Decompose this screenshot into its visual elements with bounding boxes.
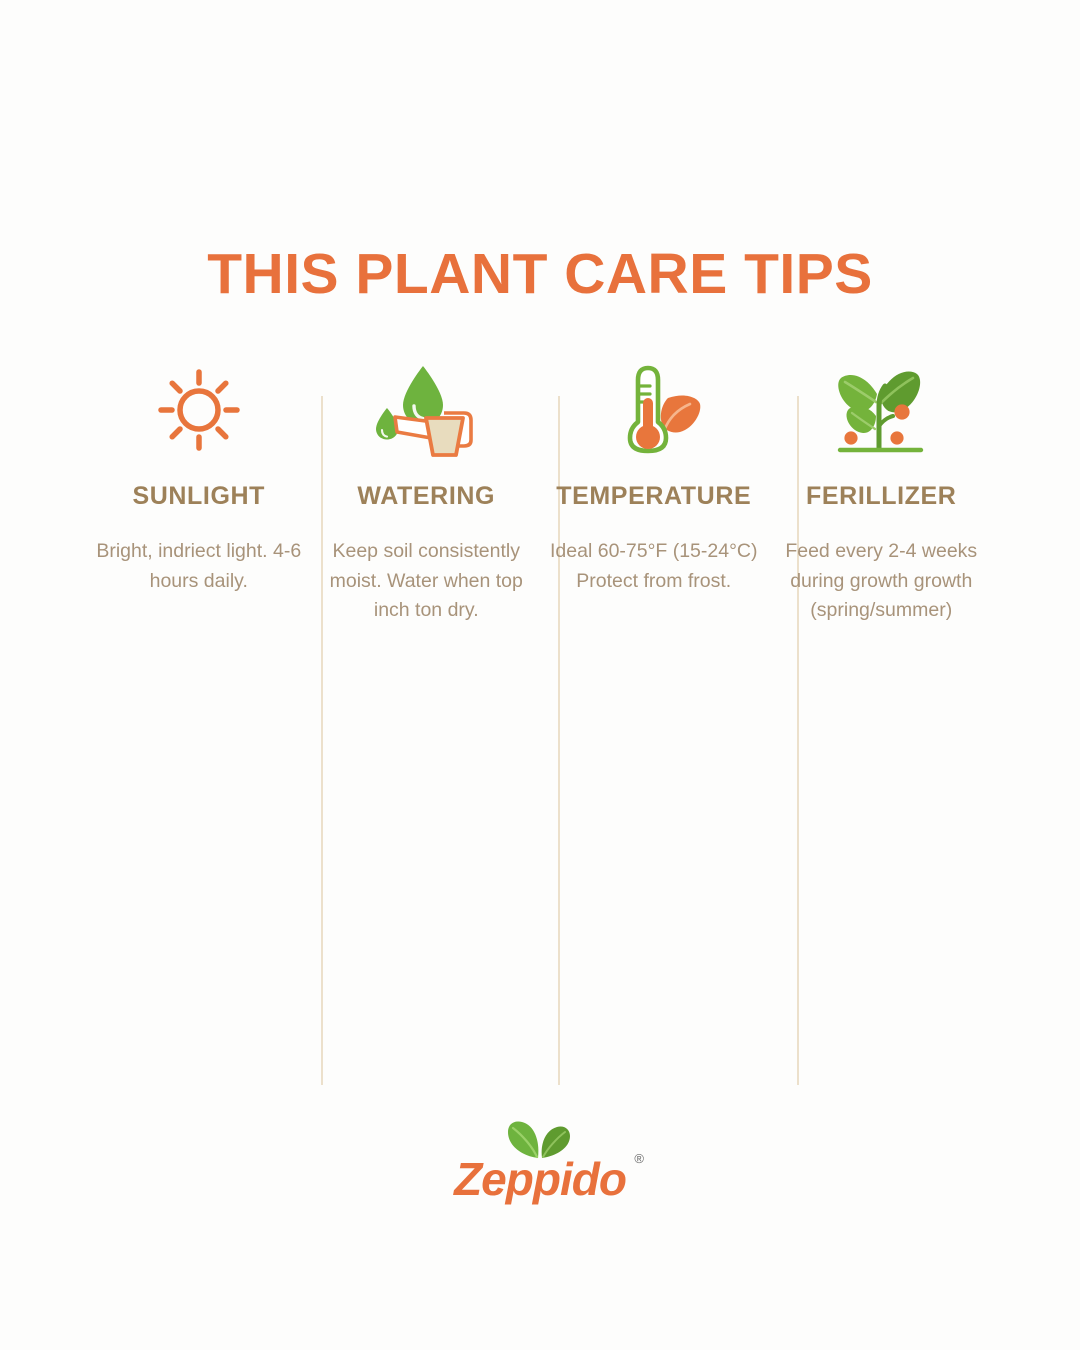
care-body-fertilizer: Feed every 2-4 weeks during growth growt… bbox=[776, 537, 986, 626]
thermometer-icon bbox=[602, 360, 706, 460]
care-body-temperature: Ideal 60-75°F (15-24°C) Protect from fro… bbox=[549, 537, 759, 596]
registered-trademark-icon: ® bbox=[634, 1152, 643, 1165]
fertilizer-plant-icon bbox=[829, 360, 933, 460]
care-heading-temperature: TEMPERATURE bbox=[556, 484, 751, 509]
care-column-sunlight: SUNLIGHT Bright, indriect light. 4-6 hou… bbox=[85, 360, 313, 596]
care-heading-sunlight: SUNLIGHT bbox=[132, 484, 265, 509]
care-column-watering: WATERING Keep soil consistently moist. W… bbox=[313, 360, 541, 626]
brand-logo: Zeppido ® bbox=[0, 1118, 1080, 1202]
sun-icon bbox=[153, 360, 245, 460]
watering-can-icon bbox=[371, 360, 481, 460]
care-tips-columns: SUNLIGHT Bright, indriect light. 4-6 hou… bbox=[85, 360, 995, 626]
care-body-sunlight: Bright, indriect light. 4-6 hours daily. bbox=[94, 537, 304, 596]
logo-wordmark-text: Zeppido bbox=[454, 1153, 626, 1205]
care-heading-watering: WATERING bbox=[357, 484, 495, 509]
page-title: THIS PLANT CARE TIPS bbox=[0, 243, 1080, 306]
care-body-watering: Keep soil consistently moist. Water when… bbox=[321, 537, 531, 626]
logo-wordmark: Zeppido ® bbox=[454, 1156, 626, 1202]
plant-care-infographic: THIS PLANT CARE TIPS bbox=[0, 0, 1080, 1350]
care-heading-fertilizer: FERILLIZER bbox=[806, 484, 956, 509]
care-column-temperature: TEMPERATURE Ideal 60-75°F (15-24°C) Prot… bbox=[540, 360, 768, 596]
care-column-fertilizer: FERILLIZER Feed every 2-4 weeks during g… bbox=[768, 360, 996, 626]
